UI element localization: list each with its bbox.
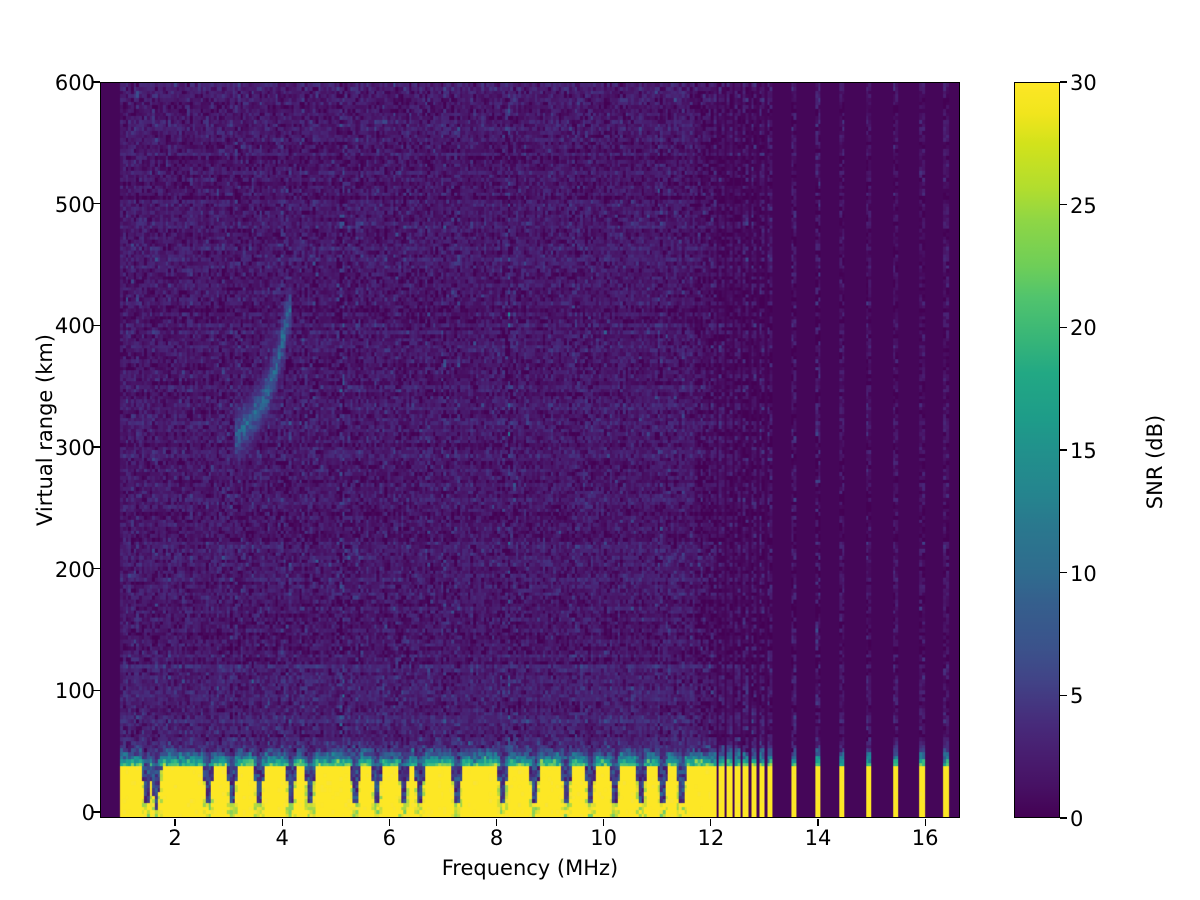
x-tick-mark [603, 819, 604, 826]
colorbar-tick-mark [1060, 449, 1067, 450]
ionogram-figure: IRF Kiruna Ionosonde KI167 2026-02-05 10… [0, 0, 1200, 900]
x-tick-mark [496, 819, 497, 826]
colorbar-tick-mark [1060, 572, 1067, 573]
y-tick-label: 0 [0, 801, 95, 825]
x-tick-mark [389, 819, 390, 826]
y-tick-label: 600 [0, 71, 95, 95]
colorbar-tick-label: 30 [1070, 71, 1160, 95]
x-tick-label: 4 [237, 826, 327, 850]
x-tick-label: 8 [452, 826, 542, 850]
colorbar-tick-mark [1060, 204, 1067, 205]
y-tick-mark [93, 203, 100, 204]
y-tick-mark [93, 690, 100, 691]
x-tick-label: 6 [344, 826, 434, 850]
snr-colorbar [1014, 82, 1060, 818]
y-tick-mark [93, 81, 100, 82]
x-tick-mark [710, 819, 711, 826]
x-tick-mark [925, 819, 926, 826]
x-tick-label: 12 [666, 826, 756, 850]
y-tick-mark [93, 568, 100, 569]
x-tick-mark [174, 819, 175, 826]
colorbar-tick-mark [1060, 817, 1067, 818]
colorbar-tick-mark [1060, 81, 1067, 82]
x-tick-label: 14 [773, 826, 863, 850]
y-tick-mark [93, 325, 100, 326]
colorbar-tick-mark [1060, 327, 1067, 328]
ionogram-heatmap-canvas [101, 83, 959, 817]
x-tick-label: 10 [559, 826, 649, 850]
x-tick-label: 16 [880, 826, 970, 850]
x-tick-label: 2 [130, 826, 220, 850]
x-tick-mark [817, 819, 818, 826]
ionogram-plot-area [100, 82, 960, 818]
x-axis-label: Frequency (MHz) [100, 856, 960, 880]
colorbar-label: SNR (dB) [1143, 162, 1167, 762]
x-tick-mark [282, 819, 283, 826]
y-tick-mark [93, 811, 100, 812]
colorbar-tick-mark [1060, 695, 1067, 696]
y-tick-mark [93, 446, 100, 447]
colorbar-tick-label: 0 [1070, 807, 1160, 831]
y-axis-label: Virtual range (km) [33, 130, 57, 730]
